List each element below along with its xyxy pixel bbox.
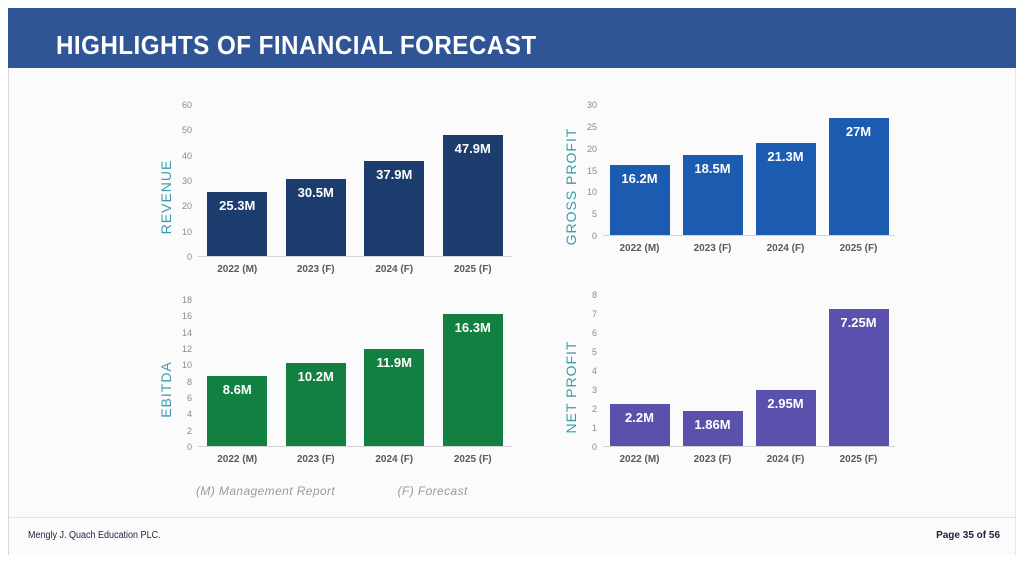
chart-revenue-ytick: 30: [182, 176, 192, 186]
chart-revenue-bar-value-label: 30.5M: [298, 185, 334, 200]
chart-gross-profit-ytick: 0: [592, 231, 597, 241]
chart-net-profit-bar-group: 1.86M: [676, 295, 749, 446]
chart-legend: (M) Management Report (F) Forecast: [196, 484, 468, 498]
chart-net-profit-axis-title: NET PROFIT: [563, 311, 579, 463]
footer-page-number: Page 35 of 56: [936, 530, 1000, 541]
chart-gross-profit-bar-value-label: 27M: [846, 124, 871, 139]
chart-gross-profit-bar-value-label: 21.3M: [767, 149, 803, 164]
chart-gross-profit-ytick: 30: [587, 100, 597, 110]
chart-net-profit-category-label: 2022 (M): [603, 454, 676, 465]
chart-gross-profit-bar-group: 16.2M: [603, 105, 676, 235]
chart-revenue-ytick: 50: [182, 125, 192, 135]
chart-ebitda-axis-title: EBITDA: [158, 316, 174, 463]
chart-revenue-categories: 2022 (M)2023 (F)2024 (F)2025 (F): [198, 264, 512, 275]
chart-gross-profit-categories: 2022 (M)2023 (F)2024 (F)2025 (F): [603, 243, 895, 254]
chart-net-profit-category-label: 2023 (F): [676, 454, 749, 465]
chart-ebitda-plot: 8.6M10.2M11.9M16.3M 2022 (M)2023 (F)2024…: [198, 300, 512, 447]
chart-revenue-axis-title: REVENUE: [158, 121, 174, 273]
chart-revenue-bar-value-label: 47.9M: [455, 141, 491, 156]
footer-divider: [8, 517, 1016, 518]
chart-ebitda-ytick: 6: [187, 393, 192, 403]
chart-ebitda: EBITDA 8.6M10.2M11.9M16.3M 2022 (M)2023 …: [160, 300, 512, 447]
chart-revenue-bar-group: 47.9M: [434, 105, 513, 256]
chart-ebitda-ytick: 14: [182, 328, 192, 338]
slide: HIGHLIGHTS OF FINANCIAL FORECAST REVENUE…: [0, 0, 1024, 563]
chart-ebitda-bar[interactable]: 16.3M: [443, 314, 503, 446]
chart-ebitda-bars: 8.6M10.2M11.9M16.3M: [198, 300, 512, 446]
chart-revenue-ytick: 40: [182, 151, 192, 161]
page-title: HIGHLIGHTS OF FINANCIAL FORECAST: [56, 30, 537, 61]
chart-revenue-bar-group: 30.5M: [277, 105, 356, 256]
chart-gross-profit-ytick: 15: [587, 166, 597, 176]
chart-revenue-category-label: 2025 (F): [434, 264, 513, 275]
chart-ebitda-category-label: 2022 (M): [198, 454, 277, 465]
chart-net-profit-baseline: [603, 446, 895, 447]
chart-net-profit-ytick: 6: [592, 328, 597, 338]
chart-ebitda-ytick: 2: [187, 426, 192, 436]
chart-ebitda-category-label: 2024 (F): [355, 454, 434, 465]
chart-gross-profit-category-label: 2024 (F): [749, 243, 822, 254]
chart-revenue-ytick: 20: [182, 201, 192, 211]
chart-gross-profit-bar-group: 27M: [822, 105, 895, 235]
slide-header-bar: HIGHLIGHTS OF FINANCIAL FORECAST: [8, 8, 1016, 68]
chart-revenue-ytick: 0: [187, 252, 192, 262]
chart-ebitda-ytick: 12: [182, 344, 192, 354]
chart-net-profit-categories: 2022 (M)2023 (F)2024 (F)2025 (F): [603, 454, 895, 465]
chart-ebitda-ytick: 10: [182, 360, 192, 370]
legend-management-report: (M) Management Report: [196, 484, 335, 498]
chart-net-profit-bar-value-label: 7.25M: [840, 315, 876, 330]
chart-gross-profit-baseline: [603, 235, 895, 236]
chart-gross-profit-category-label: 2022 (M): [603, 243, 676, 254]
chart-ebitda-bar[interactable]: 10.2M: [286, 363, 346, 446]
chart-net-profit-bar-value-label: 2.2M: [625, 410, 654, 425]
chart-revenue-bar[interactable]: 47.9M: [443, 135, 503, 256]
chart-ebitda-ytick: 4: [187, 409, 192, 419]
chart-gross-profit-ytick: 20: [587, 144, 597, 154]
chart-revenue-bar-group: 37.9M: [355, 105, 434, 256]
chart-net-profit-bar[interactable]: 7.25M: [829, 309, 889, 446]
chart-gross-profit-bar-value-label: 18.5M: [694, 161, 730, 176]
chart-gross-profit-bar-group: 21.3M: [749, 105, 822, 235]
chart-gross-profit-plot: 16.2M18.5M21.3M27M 2022 (M)2023 (F)2024 …: [603, 105, 895, 236]
slide-content-area: [8, 8, 1016, 555]
chart-revenue-baseline: [198, 256, 512, 257]
chart-revenue-bar[interactable]: 37.9M: [364, 161, 424, 256]
chart-ebitda-category-label: 2025 (F): [434, 454, 513, 465]
chart-ebitda-bar[interactable]: 8.6M: [207, 376, 267, 446]
chart-ebitda-ytick: 8: [187, 377, 192, 387]
chart-ebitda-bar-group: 8.6M: [198, 300, 277, 446]
chart-net-profit-bar-group: 7.25M: [822, 295, 895, 446]
chart-ebitda-categories: 2022 (M)2023 (F)2024 (F)2025 (F): [198, 454, 512, 465]
chart-revenue-bar-value-label: 25.3M: [219, 198, 255, 213]
chart-ebitda-bar-group: 10.2M: [277, 300, 356, 446]
chart-net-profit-ytick: 1: [592, 423, 597, 433]
chart-gross-profit-category-label: 2023 (F): [676, 243, 749, 254]
chart-revenue-bar[interactable]: 25.3M: [207, 192, 267, 256]
chart-ebitda-bar-group: 11.9M: [355, 300, 434, 446]
chart-revenue-plot: 25.3M30.5M37.9M47.9M 2022 (M)2023 (F)202…: [198, 105, 512, 257]
chart-ebitda-baseline: [198, 446, 512, 447]
chart-net-profit-category-label: 2024 (F): [749, 454, 822, 465]
chart-gross-profit-ytick: 25: [587, 122, 597, 132]
chart-gross-profit-bar[interactable]: 27M: [829, 118, 889, 235]
chart-net-profit-bar-value-label: 2.95M: [767, 396, 803, 411]
chart-gross-profit: GROSS PROFIT 16.2M18.5M21.3M27M 2022 (M)…: [565, 105, 895, 236]
chart-gross-profit-bars: 16.2M18.5M21.3M27M: [603, 105, 895, 235]
chart-revenue-bar-value-label: 37.9M: [376, 167, 412, 182]
chart-net-profit-bar[interactable]: 2.95M: [756, 390, 816, 446]
chart-revenue-bar[interactable]: 30.5M: [286, 179, 346, 256]
chart-net-profit-ytick: 4: [592, 366, 597, 376]
chart-revenue-bars: 25.3M30.5M37.9M47.9M: [198, 105, 512, 256]
chart-net-profit-ytick: 8: [592, 290, 597, 300]
chart-ebitda-ytick: 18: [182, 295, 192, 305]
chart-net-profit-category-label: 2025 (F): [822, 454, 895, 465]
chart-net-profit-plot: 2.2M1.86M2.95M7.25M 2022 (M)2023 (F)2024…: [603, 295, 895, 447]
chart-gross-profit-category-label: 2025 (F): [822, 243, 895, 254]
chart-gross-profit-axis-title: GROSS PROFIT: [563, 121, 579, 252]
chart-ebitda-ytick: 16: [182, 311, 192, 321]
chart-gross-profit-bar[interactable]: 21.3M: [756, 143, 816, 235]
chart-revenue-ytick: 60: [182, 100, 192, 110]
chart-ebitda-bar-value-label: 10.2M: [298, 369, 334, 384]
chart-gross-profit-ytick: 10: [587, 187, 597, 197]
chart-net-profit-bars: 2.2M1.86M2.95M7.25M: [603, 295, 895, 446]
chart-ebitda-bar[interactable]: 11.9M: [364, 349, 424, 446]
chart-revenue-ytick: 10: [182, 227, 192, 237]
chart-net-profit-bar[interactable]: 2.2M: [610, 404, 670, 446]
chart-gross-profit-bar-group: 18.5M: [676, 105, 749, 235]
chart-net-profit-bar-value-label: 1.86M: [694, 417, 730, 432]
chart-ebitda-bar-value-label: 8.6M: [223, 382, 252, 397]
chart-net-profit-ytick: 5: [592, 347, 597, 357]
chart-revenue-category-label: 2022 (M): [198, 264, 277, 275]
chart-gross-profit-bar[interactable]: 16.2M: [610, 165, 670, 235]
chart-net-profit-bar[interactable]: 1.86M: [683, 411, 743, 446]
footer-organization: Mengly J. Quach Education PLC.: [28, 530, 161, 541]
chart-ebitda-bar-value-label: 16.3M: [455, 320, 491, 335]
chart-ebitda-bar-value-label: 11.9M: [377, 355, 412, 370]
chart-ebitda-ytick: 0: [187, 442, 192, 452]
chart-ebitda-bar-group: 16.3M: [434, 300, 513, 446]
chart-gross-profit-bar[interactable]: 18.5M: [683, 155, 743, 235]
chart-gross-profit-bar-value-label: 16.2M: [621, 171, 657, 186]
chart-net-profit: NET PROFIT 2.2M1.86M2.95M7.25M 2022 (M)2…: [565, 295, 895, 447]
chart-revenue-category-label: 2024 (F): [355, 264, 434, 275]
chart-net-profit-ytick: 3: [592, 385, 597, 395]
chart-net-profit-bar-group: 2.95M: [749, 295, 822, 446]
chart-net-profit-ytick: 0: [592, 442, 597, 452]
chart-net-profit-bar-group: 2.2M: [603, 295, 676, 446]
chart-gross-profit-ytick: 5: [592, 209, 597, 219]
chart-revenue-category-label: 2023 (F): [277, 264, 356, 275]
legend-forecast: (F) Forecast: [398, 484, 468, 498]
chart-net-profit-ytick: 2: [592, 404, 597, 414]
chart-revenue: REVENUE 25.3M30.5M37.9M47.9M 2022 (M)202…: [160, 105, 512, 257]
chart-net-profit-ytick: 7: [592, 309, 597, 319]
chart-ebitda-category-label: 2023 (F): [277, 454, 356, 465]
chart-revenue-bar-group: 25.3M: [198, 105, 277, 256]
